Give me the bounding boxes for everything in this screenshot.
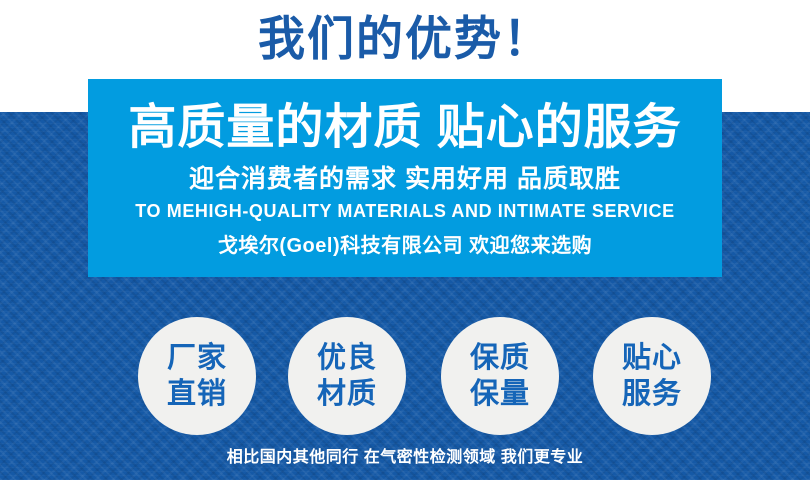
hero-subheadline: 迎合消费者的需求 实用好用 品质取胜 xyxy=(88,163,722,195)
hero-panel: 高质量的材质 贴心的服务 迎合消费者的需求 实用好用 品质取胜 TO MEHIG… xyxy=(88,79,722,277)
hero-company-line: 戈埃尔(Goel)科技有限公司 欢迎您来选购 xyxy=(88,233,722,259)
page-title: 我们的优势！ xyxy=(0,8,810,70)
hero-english-tagline: TO MEHIGH-QUALITY MATERIALS AND INTIMATE… xyxy=(88,200,722,222)
feature-circle-1-line-2: 材质 xyxy=(317,376,377,412)
feature-circle-2-line-2: 保量 xyxy=(470,376,530,412)
feature-circle-1: 优良 材质 xyxy=(288,317,406,435)
feature-circle-2: 保质 保量 xyxy=(441,317,559,435)
feature-circle-3-line-1: 贴心 xyxy=(622,340,682,376)
feature-circle-3-line-2: 服务 xyxy=(622,376,682,412)
feature-circle-0: 厂家 直销 xyxy=(138,317,256,435)
feature-circle-3: 贴心 服务 xyxy=(593,317,711,435)
feature-circle-1-line-1: 优良 xyxy=(317,340,377,376)
promo-banner: 我们的优势！ 高质量的材质 贴心的服务 迎合消费者的需求 实用好用 品质取胜 T… xyxy=(0,0,810,480)
feature-circle-0-line-2: 直销 xyxy=(167,376,227,412)
feature-circle-0-line-1: 厂家 xyxy=(167,340,227,376)
feature-circle-2-line-1: 保质 xyxy=(470,340,530,376)
footer-tagline: 相比国内其他同行 在气密性检测领域 我们更专业 xyxy=(0,447,810,469)
feature-circles: 厂家 直销 优良 材质 保质 保量 贴心 服务 xyxy=(0,317,810,437)
hero-headline: 高质量的材质 贴心的服务 xyxy=(88,99,722,157)
